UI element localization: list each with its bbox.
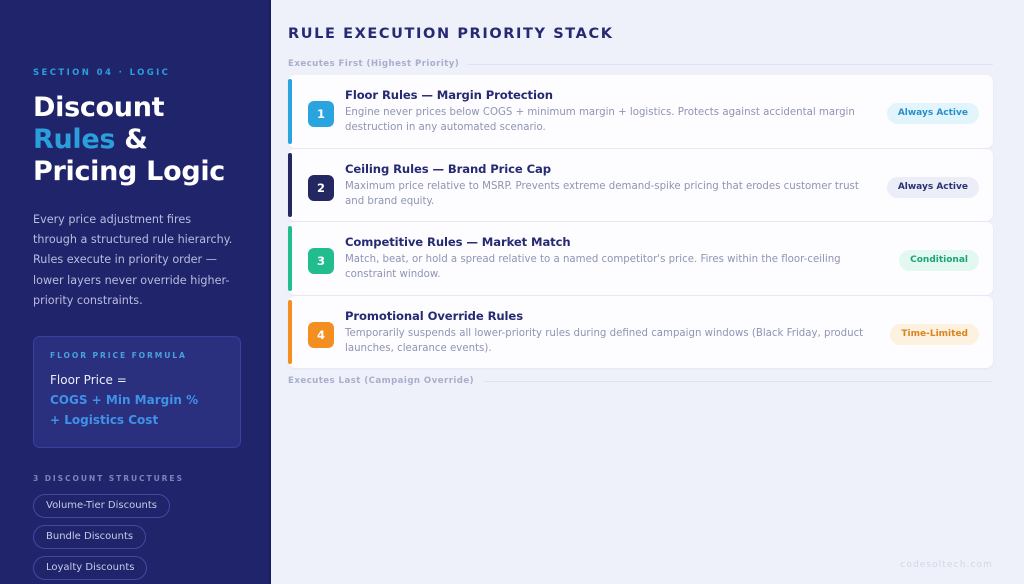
rule-title: Ceiling Rules — Brand Price Cap [345, 162, 879, 176]
sidebar-description: Every price adjustment fires through a s… [33, 210, 238, 312]
rule-card-body: Promotional Override Rules Temporarily s… [334, 308, 993, 357]
rule-card-body: Floor Rules — Margin Protection Engine n… [334, 87, 993, 136]
rule-title: Competitive Rules — Market Match [345, 235, 891, 249]
rule-accent-bar [288, 79, 292, 144]
headline-line-2-rest: & [115, 124, 147, 155]
rule-card[interactable]: 4 Promotional Override Rules Temporarily… [288, 296, 993, 369]
rule-text-block: Promotional Override Rules Temporarily s… [345, 308, 882, 357]
rule-priority-stack: 1 Floor Rules — Margin Protection Engine… [288, 75, 993, 368]
divider-line [468, 64, 993, 65]
discount-chip[interactable]: Loyalty Discounts [33, 556, 147, 580]
rule-number-badge: 1 [308, 101, 334, 127]
divider-line [483, 381, 993, 382]
rule-text-block: Ceiling Rules — Brand Price Cap Maximum … [345, 161, 879, 210]
discount-chip[interactable]: Bundle Discounts [33, 525, 146, 549]
rule-text-block: Competitive Rules — Market Match Match, … [345, 234, 891, 283]
status-badge: Time-Limited [890, 324, 979, 345]
flow-label-top-text: Executes First (Highest Priority) [288, 59, 459, 69]
section-eyebrow: SECTION 04 · LOGIC [33, 68, 238, 78]
discount-structures-chip-list: Volume-Tier Discounts Bundle Discounts L… [33, 494, 249, 580]
headline-line-3: Pricing Logic [33, 156, 225, 187]
floor-price-formula-card: FLOOR PRICE FORMULA Floor Price = COGS +… [33, 336, 241, 447]
rule-title: Floor Rules — Margin Protection [345, 88, 879, 102]
headline-accent-word: Rules [33, 124, 115, 155]
rule-card[interactable]: 3 Competitive Rules — Market Match Match… [288, 222, 993, 295]
sidebar: SECTION 04 · LOGIC Discount Rules & Pric… [0, 0, 271, 584]
status-badge: Always Active [887, 103, 979, 124]
rule-description: Engine never prices below COGS + minimum… [345, 105, 879, 136]
rule-description: Maximum price relative to MSRP. Prevents… [345, 179, 879, 210]
headline-line-1: Discount [33, 92, 164, 123]
main-section-title: RULE EXECUTION PRIORITY STACK [288, 26, 993, 42]
rule-accent-bar [288, 300, 292, 365]
rule-number-badge: 3 [308, 248, 334, 274]
rule-number-badge: 2 [308, 175, 334, 201]
rule-card-body: Competitive Rules — Market Match Match, … [334, 234, 993, 283]
flow-label-top: Executes First (Highest Priority) [288, 59, 993, 69]
formula-line-3: + Logistics Cost [50, 411, 224, 431]
discount-chip[interactable]: Volume-Tier Discounts [33, 494, 170, 518]
rule-number-badge: 4 [308, 322, 334, 348]
status-badge: Conditional [899, 250, 979, 271]
rule-accent-bar [288, 153, 292, 218]
main-content: RULE EXECUTION PRIORITY STACK Executes F… [271, 0, 1024, 584]
discount-structures-label: 3 DISCOUNT STRUCTURES [33, 474, 238, 483]
rule-card[interactable]: 2 Ceiling Rules — Brand Price Cap Maximu… [288, 149, 993, 222]
rule-description: Match, beat, or hold a spread relative t… [345, 252, 885, 283]
rule-accent-bar [288, 226, 292, 291]
rule-title: Promotional Override Rules [345, 309, 882, 323]
status-badge: Always Active [887, 177, 979, 198]
rule-card[interactable]: 1 Floor Rules — Margin Protection Engine… [288, 75, 993, 148]
slide-root: SECTION 04 · LOGIC Discount Rules & Pric… [0, 0, 1024, 584]
flow-label-bottom-text: Executes Last (Campaign Override) [288, 376, 474, 386]
page-title: Discount Rules & Pricing Logic [33, 92, 238, 188]
watermark: codesoltech.com [900, 560, 993, 570]
rule-description: Temporarily suspends all lower-priority … [345, 326, 882, 357]
rule-text-block: Floor Rules — Margin Protection Engine n… [345, 87, 879, 136]
flow-label-bottom: Executes Last (Campaign Override) [288, 376, 993, 386]
rule-card-body: Ceiling Rules — Brand Price Cap Maximum … [334, 161, 993, 210]
formula-card-label: FLOOR PRICE FORMULA [50, 351, 224, 360]
formula-line-1: Floor Price = [50, 371, 224, 391]
formula-line-2: COGS + Min Margin % [50, 391, 224, 411]
